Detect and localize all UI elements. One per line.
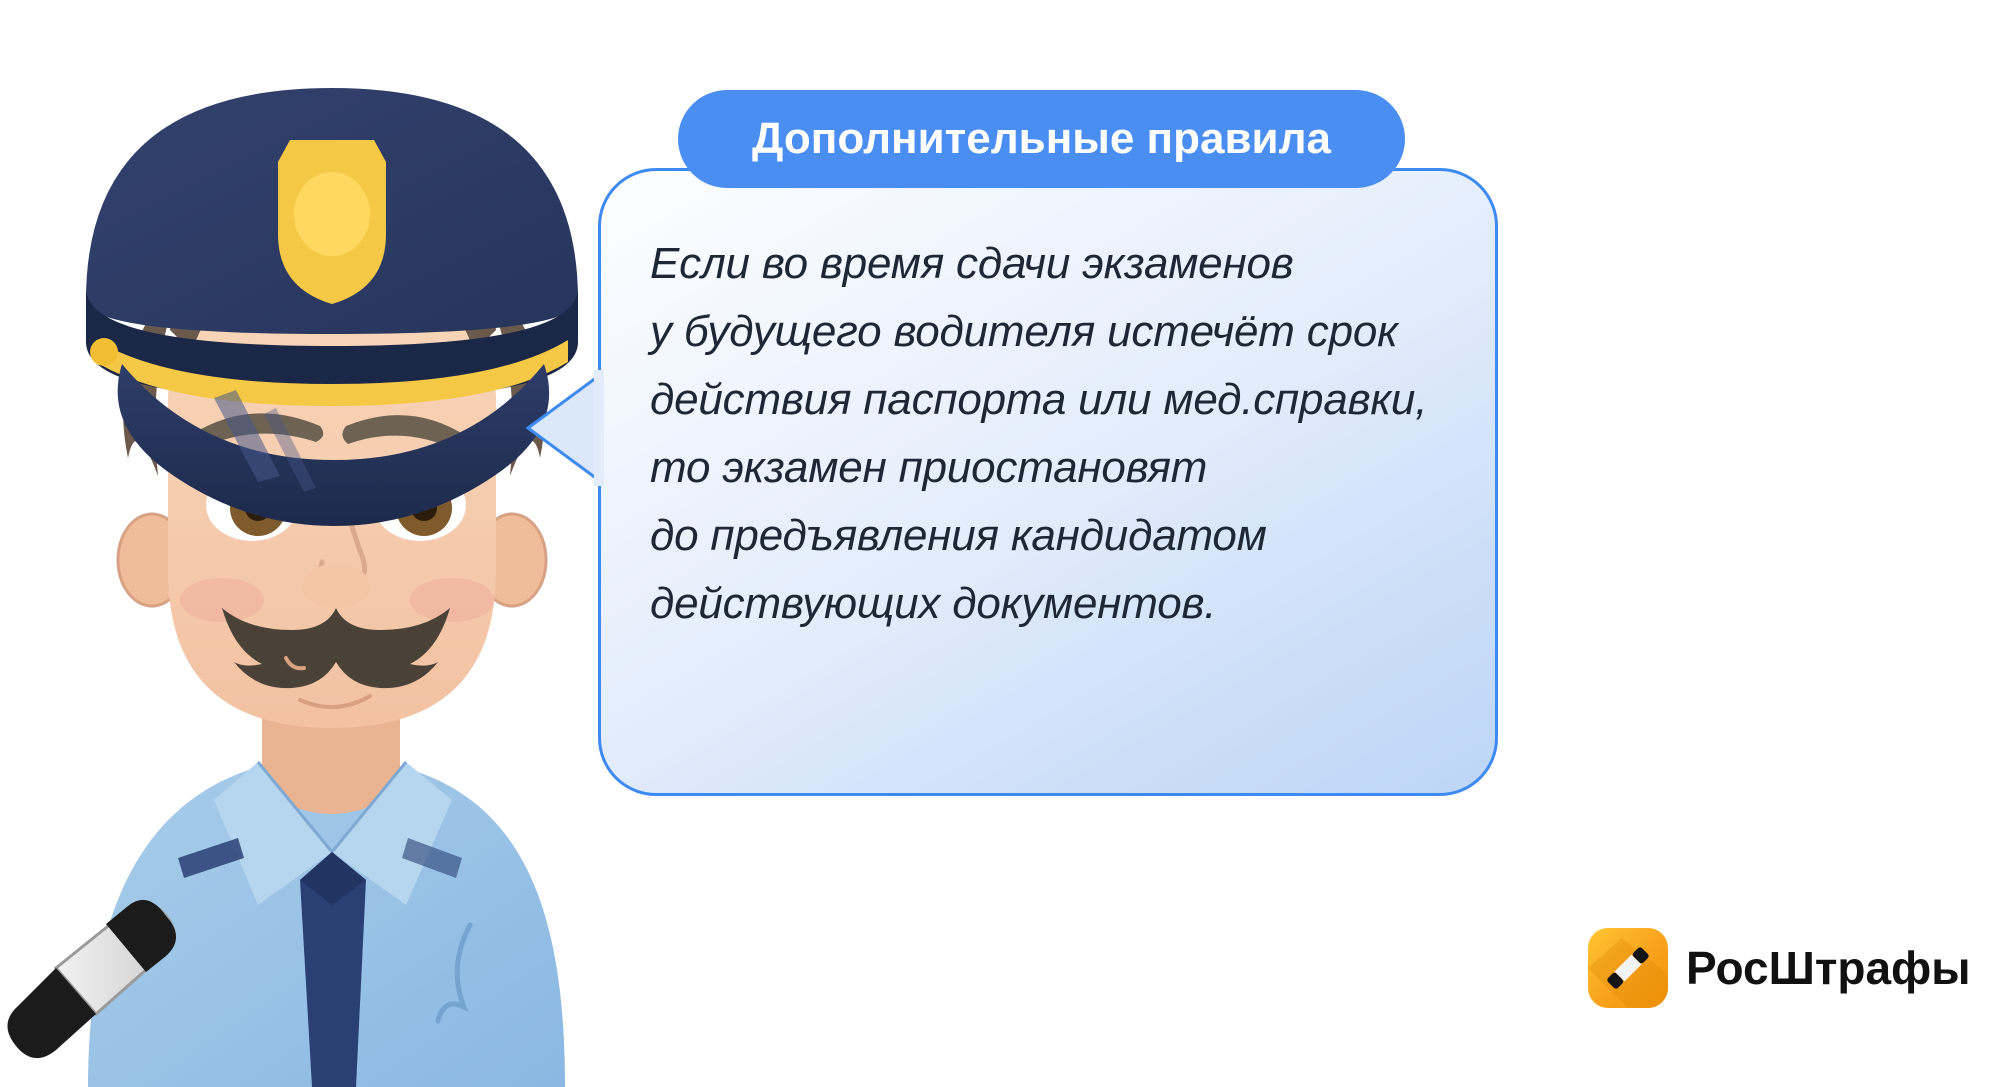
bubble-text-block: Если во время сдачи экзаменов у будущего… [650,230,1464,638]
page-title: Дополнительные правила [752,114,1331,164]
illustration-banner: Если во время сдачи экзаменов у будущего… [0,0,2000,1087]
police-officer-illustration [0,0,660,1087]
bubble-line-4: то экзамен приостановят [650,434,1464,502]
bubble-line-2: у будущего водителя истечёт срок [650,298,1464,366]
police-cap [86,88,578,526]
header-banner: Дополнительные правила [678,90,1405,188]
brand-logo[interactable]: РосШтрафы [1588,928,1971,1008]
bubble-line-6: действующих документов. [650,570,1464,638]
striped-baton-icon [1588,928,1668,1008]
brand-name: РосШтрафы [1686,941,1971,995]
speech-bubble: Если во время сдачи экзаменов у будущего… [598,168,1498,796]
bubble-line-5: до предъявления кандидатом [650,502,1464,570]
bubble-line-3: действия паспорта или мед.справки, [650,366,1464,434]
bubble-line-1: Если во время сдачи экзаменов [650,230,1464,298]
cap-badge-icon [278,140,386,304]
officer-uniform [88,700,565,1087]
speech-bubble-tail [524,368,604,488]
